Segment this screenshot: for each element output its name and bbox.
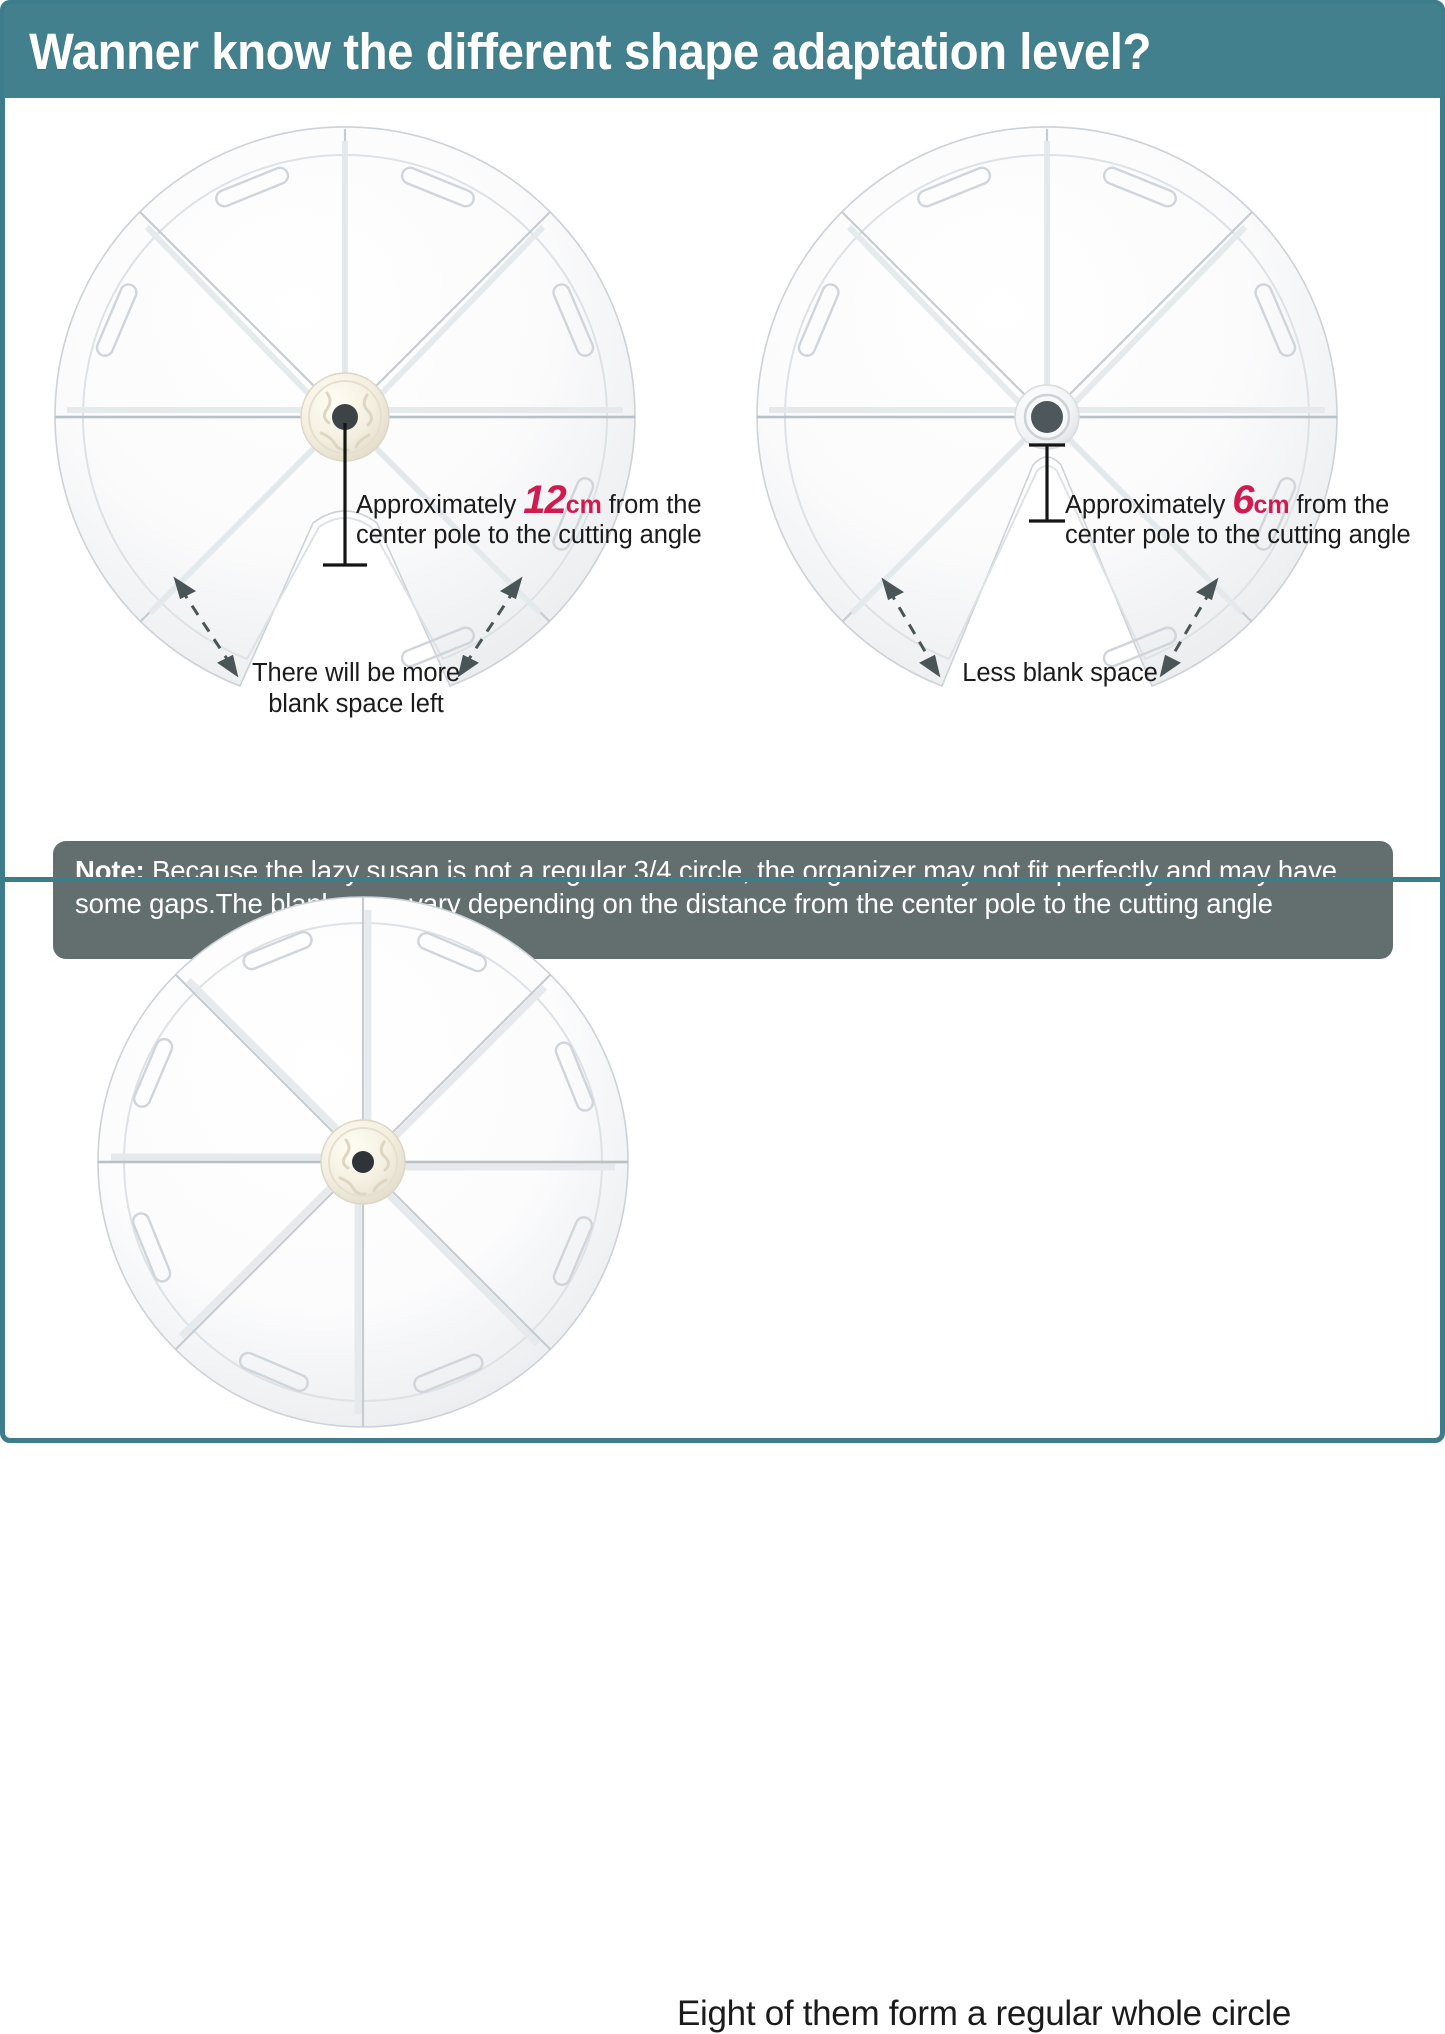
right-measure-line2: center pole to the cutting angle — [1065, 521, 1411, 551]
right-measure-suffix: from the — [1289, 491, 1389, 519]
right-blank-space-label: Less blank space — [935, 658, 1185, 689]
left-blank-space-line1: There will be more — [236, 658, 476, 689]
center-hub — [1015, 385, 1079, 449]
center-hole — [1031, 401, 1063, 433]
page-title: Wanner know the different shape adaptati… — [4, 22, 1151, 81]
left-measure-unit: cm — [566, 491, 602, 519]
bottom-panel: Eight of them form a regular whole circl… — [5, 882, 1440, 1443]
left-blank-space-label: There will be more blank space left — [236, 658, 476, 719]
top-comparison-panel: Approximately 12cm from the center pole … — [5, 99, 1440, 877]
right-product-image — [737, 127, 1357, 697]
left-product-image — [35, 127, 655, 697]
right-measure-caption: Approximately 6cm from the center pole t… — [1065, 484, 1411, 550]
bottom-caption: Eight of them form a regular whole circl… — [677, 1994, 1291, 2034]
full-circle-product-image — [83, 890, 643, 1440]
right-measure-prefix: Approximately — [1065, 491, 1232, 519]
left-measure-suffix: from the — [602, 491, 702, 519]
left-measure-prefix: Approximately — [356, 491, 523, 519]
left-measure-line2: center pole to the cutting angle — [356, 521, 702, 551]
left-measure-caption: Approximately 12cm from the center pole … — [356, 484, 702, 550]
right-measure-unit: cm — [1254, 491, 1290, 519]
left-blank-space-line2: blank space left — [236, 689, 476, 720]
infographic-page: Wanner know the different shape adaptati… — [0, 0, 1445, 1443]
center-hub — [321, 1120, 405, 1204]
center-hole — [352, 1151, 374, 1173]
header-banner: Wanner know the different shape adaptati… — [4, 4, 1441, 98]
left-measure-number: 12 — [523, 478, 566, 522]
right-measure-number: 6 — [1232, 478, 1253, 522]
